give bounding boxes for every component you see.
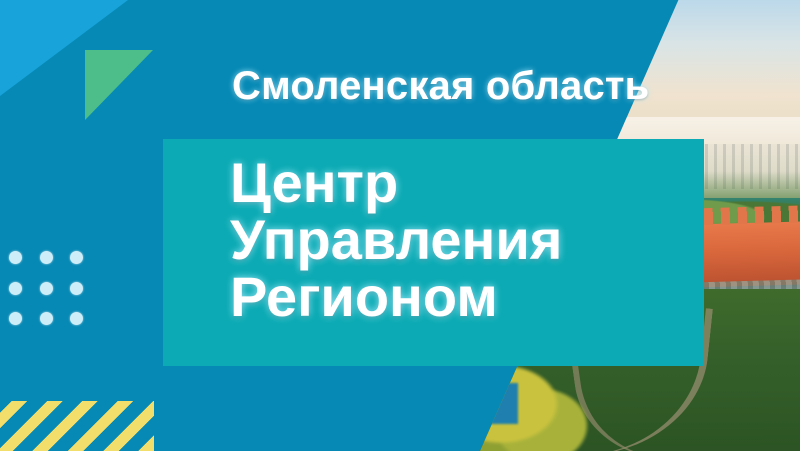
main-title-line-2: Управления — [230, 211, 562, 268]
main-title-line-3: Регионом — [230, 268, 562, 325]
main-title-line-1: Центр — [230, 154, 562, 211]
cur-smolensk-banner: Смоленская область Центр Управления Реги… — [0, 0, 800, 451]
dot — [70, 251, 83, 264]
dot — [9, 282, 22, 295]
dot — [70, 282, 83, 295]
dot — [40, 312, 53, 325]
photo-yellow-bush — [480, 361, 595, 451]
region-title: Смоленская область — [232, 64, 649, 109]
yellow-diagonal-stripes — [0, 401, 154, 451]
dot — [40, 251, 53, 264]
green-triangle — [85, 50, 153, 120]
dot — [9, 312, 22, 325]
main-title: Центр Управления Регионом — [230, 154, 562, 325]
dot-grid-pattern — [9, 251, 101, 343]
dot — [40, 282, 53, 295]
dot — [9, 251, 22, 264]
dot — [70, 312, 83, 325]
photo-blue-patch — [480, 383, 518, 424]
